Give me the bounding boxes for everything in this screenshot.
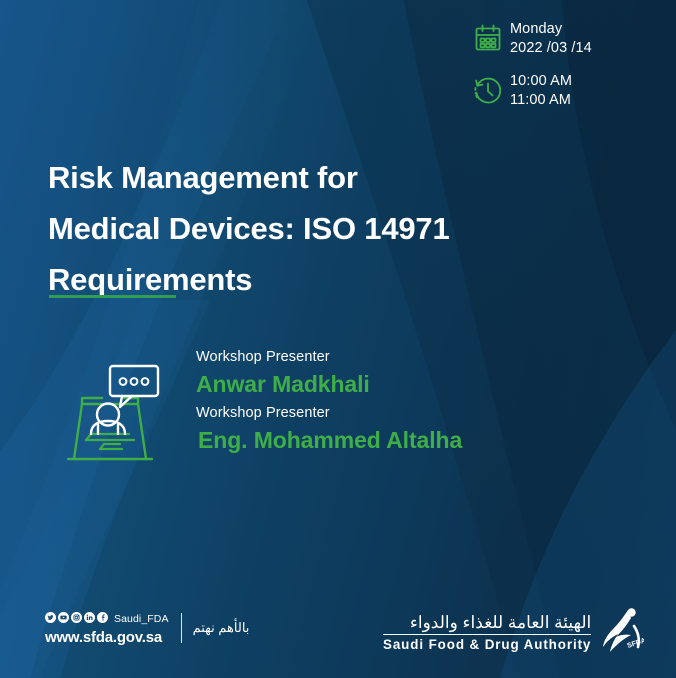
date-day: Monday [510, 21, 562, 37]
presenter-role: Workshop Presenter [196, 347, 616, 367]
title-underline-rule [49, 295, 176, 298]
instagram-icon[interactable] [71, 610, 82, 628]
presenter-role: Workshop Presenter [196, 403, 616, 423]
presenter-entry: Workshop Presenter Anwar Madkhali [196, 347, 616, 401]
clock-icon [466, 72, 510, 108]
presenter-name: Eng. Mohammed Altalha [196, 423, 616, 457]
svg-text:SFDA: SFDA [627, 637, 645, 650]
footer-contact: Saudi_FDA www.sfda.gov.sa بالأهم نهتم [45, 610, 249, 646]
time-text: 10:00 AM 11:00 AM [510, 72, 572, 110]
sfda-logo-english: Saudi Food & Drug Authority [383, 635, 591, 653]
time-row: 10:00 AM 11:00 AM [466, 72, 666, 110]
facebook-icon[interactable] [97, 610, 108, 628]
website-link[interactable]: www.sfda.gov.sa [45, 629, 169, 646]
event-poster: Monday 2022 /03 /14 10:00 AM 11:00 AM [0, 0, 676, 678]
title-line-2: Medical Devices: ISO 14971 [48, 203, 568, 254]
date-value: 2022 /03 /14 [510, 40, 592, 56]
sfda-logo: الهيئة العامة للغذاء والدواء Saudi Food … [383, 606, 644, 659]
sfda-logo-arabic: الهيئة العامة للغذاء والدواء [383, 613, 591, 635]
date-text: Monday 2022 /03 /14 [510, 20, 592, 58]
calendar-icon [466, 20, 510, 54]
twitter-icon[interactable] [45, 610, 56, 628]
online-workshop-laptop-icon [50, 352, 170, 472]
linkedin-icon[interactable] [84, 610, 95, 628]
youtube-icon[interactable] [58, 610, 69, 628]
footer-contact-stack: Saudi_FDA www.sfda.gov.sa [45, 610, 169, 646]
sfda-logo-wordmark: الهيئة العامة للغذاء والدواء Saudi Food … [383, 613, 591, 653]
time-start: 10:00 AM [510, 73, 572, 89]
footer-divider [181, 613, 182, 643]
time-end: 11:00 AM [510, 92, 571, 108]
title-line-1: Risk Management for [48, 152, 568, 203]
social-handle: Saudi_FDA [114, 613, 169, 625]
presenter-entry: Workshop Presenter Eng. Mohammed Altalha [196, 403, 616, 457]
date-row: Monday 2022 /03 /14 [466, 20, 666, 58]
page-title: Risk Management for Medical Devices: ISO… [48, 152, 568, 305]
presenter-name: Anwar Madkhali [196, 367, 616, 401]
sfda-logo-mark-icon: SFDA [598, 606, 644, 659]
footer-tagline-arabic: بالأهم نهتم [193, 620, 250, 636]
presenters-list: Workshop Presenter Anwar Madkhali Worksh… [196, 347, 616, 459]
event-meta: Monday 2022 /03 /14 10:00 AM 11:00 AM [466, 20, 666, 124]
social-links: Saudi_FDA [45, 610, 169, 628]
